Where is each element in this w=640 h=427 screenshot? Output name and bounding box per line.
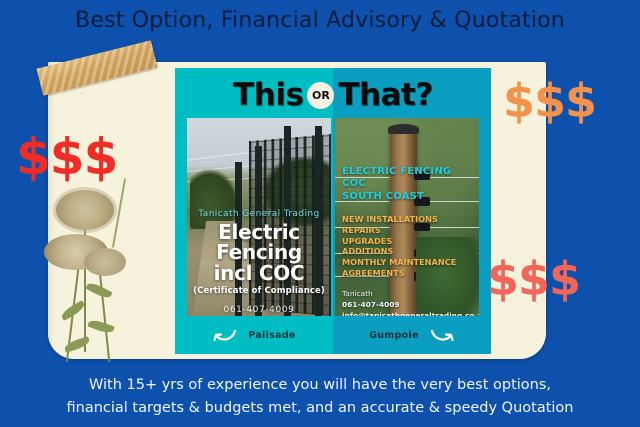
palisade-overlay-text: Tanicath General Trading Electric Fencin… (187, 209, 331, 316)
right-phone-number: 061-407-4009 (342, 299, 475, 310)
service-item: UPGRADES (342, 236, 475, 247)
right-company-name: Tanicath (342, 288, 475, 299)
paper-torn-edge (48, 62, 55, 359)
page-footer: With 15+ yrs of experience you will have… (0, 374, 640, 419)
or-badge: OR (307, 82, 334, 109)
poster-label-bar: Palisade Gumpole (175, 316, 491, 354)
poster-title: This OR That? (175, 79, 491, 111)
service-item: ADDITIONS (342, 246, 475, 257)
photo-gumpole-fence: ELECTRIC FENCING COC SOUTH COAST NEW INS… (335, 118, 479, 316)
footer-line-1: With 15+ yrs of experience you will have… (89, 377, 551, 393)
curved-arrow-right-icon (429, 327, 455, 343)
money-symbols-bottom-right: $$$ (487, 252, 580, 306)
money-symbols-top-right: $$$ (503, 74, 596, 128)
right-heading-line1: ELECTRIC FENCING (342, 166, 475, 179)
label-gumpole: Gumpole (333, 316, 491, 354)
left-title-line2: incl COC (187, 263, 331, 283)
service-item: MONTHLY MAINTENANCE AGREEMENTS (342, 257, 475, 279)
label-gumpole-text: Gumpole (369, 330, 419, 341)
footer-line-2: financial targets & budgets met, and an … (0, 397, 640, 419)
left-title-line1: Electric Fencing (187, 222, 331, 263)
poster-canvas: Best Option, Financial Advisory & Quotat… (0, 0, 640, 427)
left-subtitle: (Certificate of Compliance) (187, 286, 331, 296)
comparison-poster: This OR That? Tanicath General Trading E… (175, 68, 491, 354)
right-heading-line2: COC (342, 178, 475, 191)
service-item: REPAIRS (342, 225, 475, 236)
photo-palisade-fence: Tanicath General Trading Electric Fencin… (187, 118, 331, 316)
money-symbols-left: $$$ (16, 128, 117, 186)
curved-arrow-left-icon (212, 327, 238, 343)
comparison-photos: Tanicath General Trading Electric Fencin… (187, 118, 479, 316)
poster-title-this: This (233, 80, 303, 111)
left-brand-label: Tanicath General Trading (187, 209, 331, 219)
page-title: Best Option, Financial Advisory & Quotat… (0, 8, 640, 33)
poster-title-that: That? (338, 80, 432, 111)
left-phone-number: 061-407-4009 (187, 305, 331, 315)
right-heading-line3: SOUTH COAST (342, 191, 475, 204)
service-item: NEW INSTALLATIONS (342, 214, 475, 225)
right-contact-block: Tanicath 061-407-4009 info@tanicathgener… (342, 288, 475, 316)
label-palisade-text: Palisade (248, 330, 295, 341)
label-palisade: Palisade (175, 316, 333, 354)
right-services-list: NEW INSTALLATIONS REPAIRS UPGRADES ADDIT… (342, 214, 475, 279)
gumpole-overlay-text: ELECTRIC FENCING COC SOUTH COAST NEW INS… (342, 166, 475, 316)
